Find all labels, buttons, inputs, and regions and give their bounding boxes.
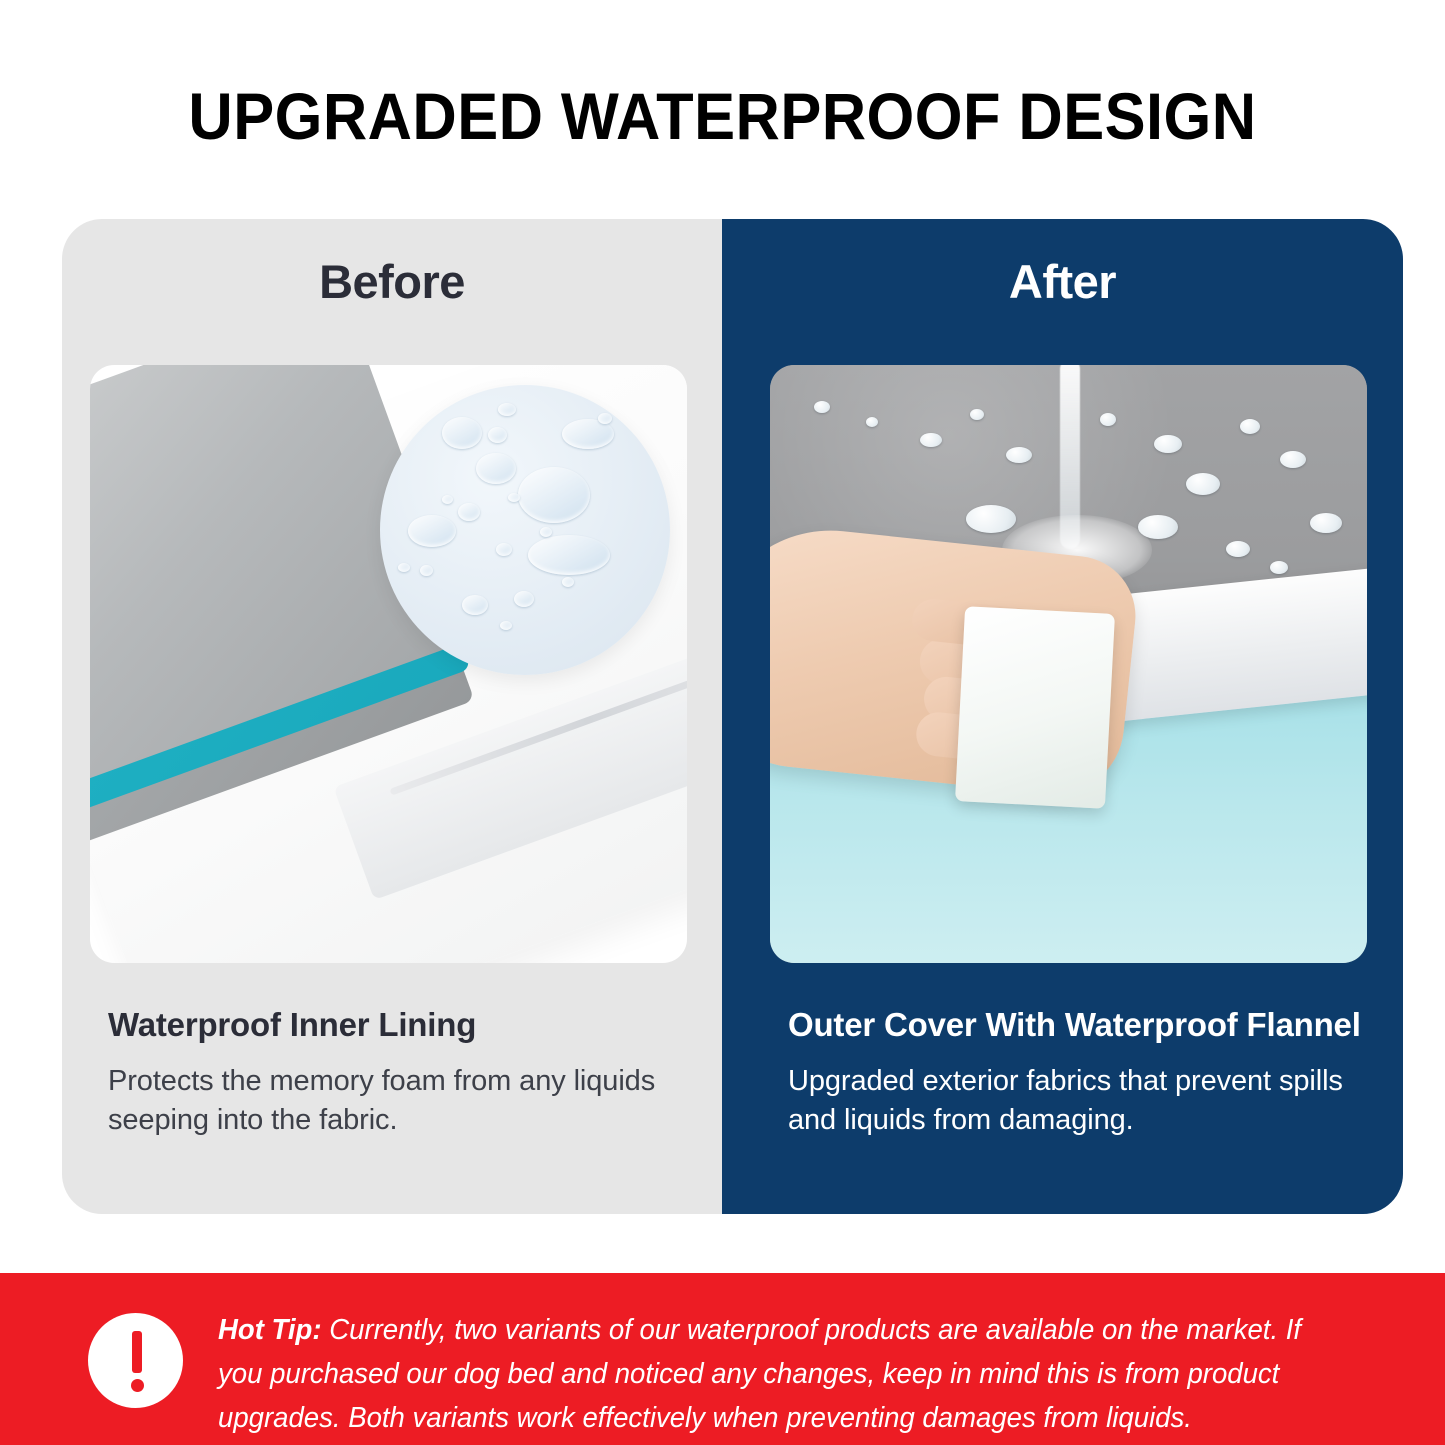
comparison-panels: Before [62, 219, 1403, 1214]
water-drop [488, 427, 507, 443]
exclamation-circle-icon [88, 1313, 183, 1408]
water-bead [966, 505, 1016, 533]
caption-before: Waterproof Inner Lining Protects the mem… [108, 1005, 688, 1141]
caption-before-body: Protects the memory foam from any liquid… [108, 1062, 688, 1140]
water-bead [1100, 413, 1116, 426]
hot-tip-text: Hot Tip: Currently, two variants of our … [218, 1308, 1349, 1440]
page-title: UPGRADED WATERPROOF DESIGN [51, 78, 1395, 154]
water-drop [496, 543, 512, 556]
caption-after: Outer Cover With Waterproof Flannel Upgr… [788, 1005, 1378, 1141]
infographic-page: UPGRADED WATERPROOF DESIGN Before [0, 0, 1445, 1445]
water-bead [1154, 435, 1182, 453]
caption-before-title: Waterproof Inner Lining [108, 1005, 688, 1045]
panel-before-heading: Before [62, 254, 722, 309]
water-drop [514, 591, 534, 607]
hot-tip-lead: Hot Tip: [218, 1314, 322, 1346]
water-bead [1270, 561, 1288, 574]
foam-block [955, 606, 1115, 809]
water-droplet-closeup [380, 385, 670, 675]
hot-tip-body: Currently, two variants of our waterproo… [218, 1314, 1301, 1434]
water-bead [1186, 473, 1220, 495]
water-drop [476, 453, 516, 484]
water-drop [442, 495, 453, 504]
water-bead [1310, 513, 1342, 533]
water-bead [1226, 541, 1250, 557]
water-bead [920, 433, 942, 447]
panel-before: Before [62, 219, 722, 1214]
water-bead [814, 401, 830, 413]
water-bead [1240, 419, 1260, 434]
caption-after-body: Upgraded exterior fabrics that prevent s… [788, 1062, 1378, 1140]
caption-after-title: Outer Cover With Waterproof Flannel [788, 1005, 1378, 1045]
water-drop [458, 503, 480, 521]
water-drop [518, 467, 590, 523]
water-drop [408, 515, 456, 547]
water-bead [1280, 451, 1306, 468]
water-drop [598, 413, 612, 424]
water-bead [970, 409, 984, 420]
panel-after: After [722, 219, 1403, 1214]
exclamation-dot [131, 1379, 144, 1392]
water-drop [398, 563, 410, 572]
water-bead [866, 417, 878, 427]
exclamation-stroke [132, 1331, 142, 1373]
water-drop [462, 595, 488, 615]
water-drop [442, 417, 482, 449]
water-drop [498, 403, 516, 416]
photo-before [90, 365, 687, 963]
water-bead [1006, 447, 1032, 463]
water-drop [500, 621, 512, 630]
water-drop [420, 565, 433, 576]
water-drop [540, 527, 552, 537]
water-drop [508, 493, 520, 502]
water-drop [562, 577, 574, 587]
panel-after-heading: After [722, 254, 1403, 309]
water-drop [528, 535, 610, 575]
photo-after [770, 365, 1367, 963]
